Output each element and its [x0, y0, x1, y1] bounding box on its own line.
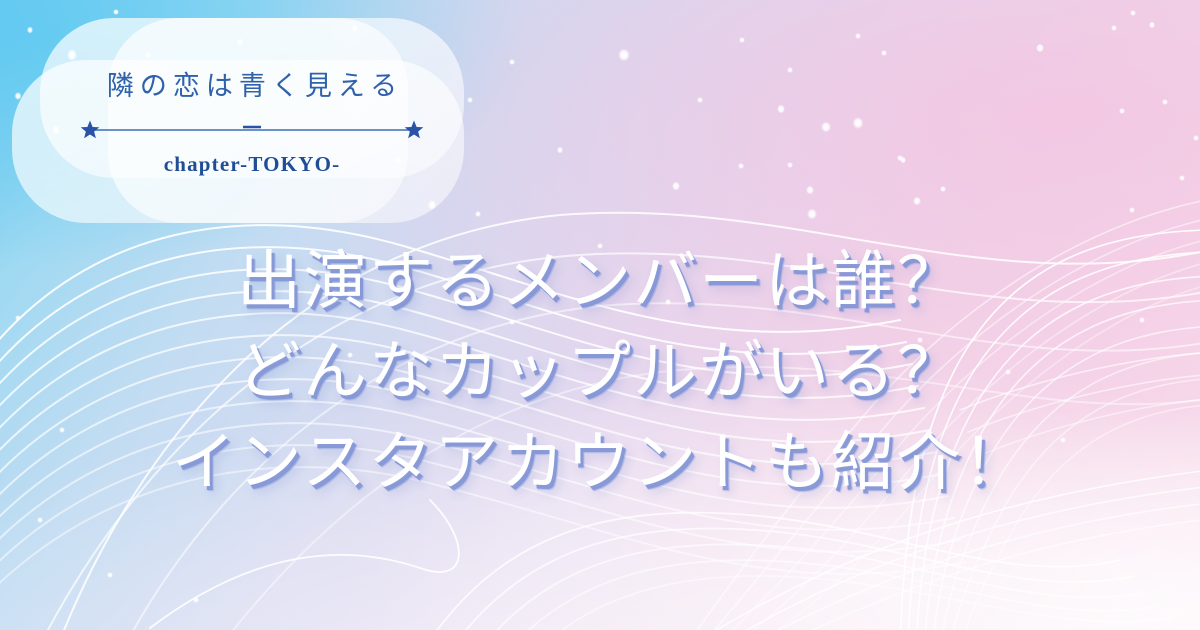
star-icon — [405, 121, 424, 139]
program-title-badge: 隣の恋は青く見える chapter-TOKYO- — [12, 18, 492, 223]
badge-divider — [77, 118, 427, 142]
headline-line-3: インスタアカウントも紹介！ — [172, 419, 1029, 507]
main-headline: 出演するメンバーは誰？ どんなカップルがいる？ インスタアカウントも紹介！ — [0, 238, 1200, 507]
badge-divider-graphic — [77, 118, 427, 142]
badge-content: 隣の恋は青く見える chapter-TOKYO- — [12, 18, 492, 223]
badge-program-title: 隣の恋は青く見える — [101, 70, 403, 102]
headline-line-1: 出演するメンバーは誰？ — [237, 238, 963, 326]
badge-chapter-label: chapter-TOKYO- — [164, 152, 341, 177]
star-icon — [81, 121, 100, 139]
banner-canvas: 隣の恋は青く見える chapter-TOKYO- 出演するメンバーは誰？ どんな… — [0, 0, 1200, 630]
headline-line-2: どんなカップルがいる？ — [237, 328, 963, 416]
